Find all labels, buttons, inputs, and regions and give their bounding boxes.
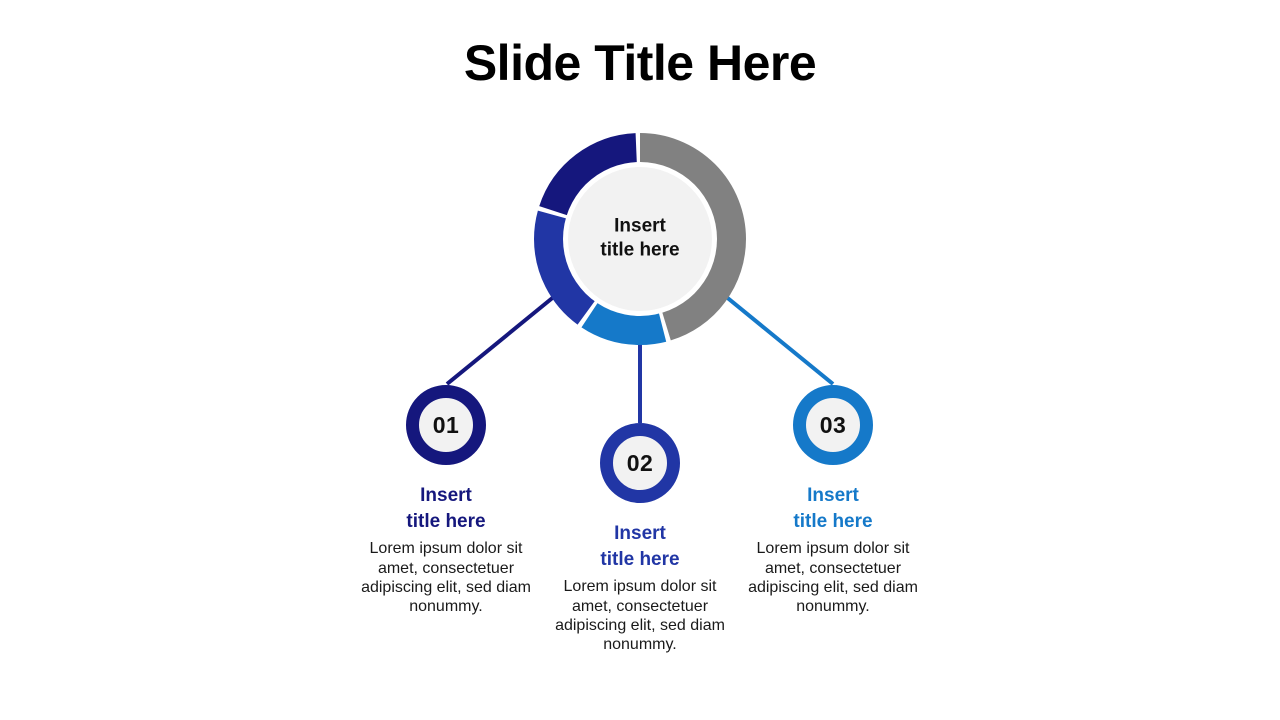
step-node-03[interactable]: 03 bbox=[793, 385, 873, 465]
page-title: Slide Title Here bbox=[0, 36, 1280, 91]
center-donut-chart[interactable]: Insert title here bbox=[529, 128, 751, 350]
column-body-01: Lorem ipsum dolor sit amet, consectetuer… bbox=[357, 539, 535, 616]
column-title-01-line1: Insert bbox=[357, 483, 535, 509]
column-title-01-line2: title here bbox=[357, 509, 535, 535]
column-title-03: Insert title here bbox=[744, 483, 922, 535]
step-number-02: 02 bbox=[627, 450, 654, 477]
text-column-01: Insert title here Lorem ipsum dolor sit … bbox=[357, 483, 535, 616]
column-title-02: Insert title here bbox=[551, 521, 729, 573]
column-title-02-line1: Insert bbox=[551, 521, 729, 547]
column-title-03-line2: title here bbox=[744, 509, 922, 535]
text-column-03: Insert title here Lorem ipsum dolor sit … bbox=[744, 483, 922, 616]
center-label-line2: title here bbox=[565, 239, 715, 263]
center-label-line1: Insert bbox=[565, 215, 715, 239]
column-title-02-line2: title here bbox=[551, 547, 729, 573]
text-column-02: Insert title here Lorem ipsum dolor sit … bbox=[551, 521, 729, 654]
step-node-02[interactable]: 02 bbox=[600, 423, 680, 503]
column-title-01: Insert title here bbox=[357, 483, 535, 535]
slide-canvas: Slide Title Here Insert title here 01 02… bbox=[0, 0, 1280, 720]
center-label: Insert title here bbox=[565, 215, 715, 264]
step-number-03: 03 bbox=[820, 412, 847, 439]
step-number-01: 01 bbox=[433, 412, 460, 439]
step-node-01[interactable]: 01 bbox=[406, 385, 486, 465]
column-body-02: Lorem ipsum dolor sit amet, consectetuer… bbox=[551, 577, 729, 654]
column-title-03-line1: Insert bbox=[744, 483, 922, 509]
column-body-03: Lorem ipsum dolor sit amet, consectetuer… bbox=[744, 539, 922, 616]
